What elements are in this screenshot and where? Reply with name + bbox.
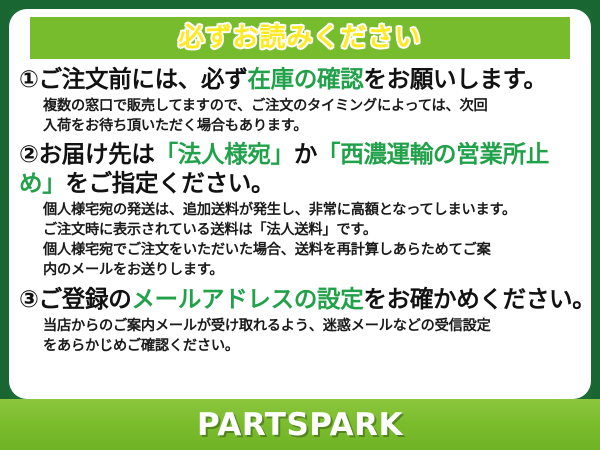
notice-item-1-head-after: をお願いします。 bbox=[363, 65, 546, 93]
frame-right-border bbox=[591, 0, 600, 450]
frame-top-border bbox=[0, 0, 600, 9]
notice-item-3-marker: ③ bbox=[19, 285, 39, 313]
banner-title: 必ずお読みください bbox=[178, 25, 421, 51]
footer-bar: PARTSPARK bbox=[0, 399, 600, 450]
notice-item-1-heading: ①ご注文前には、必ず在庫の確認をお願いします。 bbox=[19, 65, 581, 94]
notice-item-2-body-line-3: 個人様宅宛でご注文をいただいた場合、送料を再計算しあらためてご案 bbox=[43, 240, 581, 260]
brand-logo-text: PARTSPARK bbox=[197, 407, 403, 443]
notice-item-1-body-line-2: 入荷をお待ち頂いただく場合もあります。 bbox=[43, 116, 581, 136]
notice-item-3-head-before: ご登録の bbox=[39, 285, 132, 313]
notice-item-2-head-after: をご指定ください。 bbox=[65, 169, 274, 197]
notice-item-2-head-middle: か bbox=[294, 140, 317, 168]
notice-item-3-head-after: をお確かめください。 bbox=[363, 285, 591, 313]
notice-item-3: ③ご登録のメールアドレスの設定をお確かめください。 当店からのご案内メールが受け… bbox=[19, 285, 581, 356]
notice-item-1-body-line-1: 複数の窓口で販売してますので、ご注文のタイミングによっては、次回 bbox=[43, 96, 581, 116]
notice-item-3-body: 当店からのご案内メールが受け取れるよう、迷惑メールなどの受信設定 をあらかじめご… bbox=[43, 316, 581, 356]
notice-item-2-body: 個人様宅宛の発送は、追加送料が発生し、非常に高額となってしまいます。 ご注文時に… bbox=[43, 200, 581, 281]
notice-item-2-body-line-1: 個人様宅宛の発送は、追加送料が発生し、非常に高額となってしまいます。 bbox=[43, 200, 581, 220]
notice-item-2-body-line-4: 内のメールをお送りします。 bbox=[43, 260, 581, 280]
notice-item-3-body-line-2: をあらかじめご確認ください。 bbox=[43, 336, 581, 356]
notice-item-2-head-highlight: 「法人様宛」 bbox=[155, 140, 294, 168]
notice-item-1-marker: ① bbox=[19, 65, 39, 93]
content-card: 必ずお読みください ①ご注文前には、必ず在庫の確認をお願いします。 複数の窓口で… bbox=[9, 9, 591, 399]
notice-item-2-head-before: お届け先は bbox=[39, 140, 155, 168]
frame-left-border bbox=[0, 0, 9, 450]
notice-item-2-marker: ② bbox=[19, 140, 39, 168]
header-banner: 必ずお読みください bbox=[30, 17, 570, 59]
notice-banner-image: 必ずお読みください ①ご注文前には、必ず在庫の確認をお願いします。 複数の窓口で… bbox=[0, 0, 600, 450]
notice-item-2: ②お届け先は「法人様宛」か「西濃運輸の営業所止め」をご指定ください。 個人様宅宛… bbox=[19, 140, 581, 280]
notice-item-1-head-before: ご注文前には、必ず bbox=[39, 65, 248, 93]
notice-item-3-body-line-1: 当店からのご案内メールが受け取れるよう、迷惑メールなどの受信設定 bbox=[43, 316, 581, 336]
notice-item-3-head-highlight: メールアドレスの設定 bbox=[131, 285, 363, 313]
notice-item-2-heading: ②お届け先は「法人様宛」か「西濃運輸の営業所止め」をご指定ください。 bbox=[19, 140, 581, 198]
notice-item-3-heading: ③ご登録のメールアドレスの設定をお確かめください。 bbox=[19, 285, 581, 314]
notice-item-2-body-line-2: ご注文時に表示されている送料は「法人送料」です。 bbox=[43, 220, 581, 240]
notice-item-1-body: 複数の窓口で販売してますので、ご注文のタイミングによっては、次回 入荷をお待ち頂… bbox=[43, 96, 581, 136]
notice-item-1: ①ご注文前には、必ず在庫の確認をお願いします。 複数の窓口で販売してますので、ご… bbox=[19, 65, 581, 136]
notice-item-1-head-highlight: 在庫の確認 bbox=[247, 65, 363, 93]
notice-list: ①ご注文前には、必ず在庫の確認をお願いします。 複数の窓口で販売してますので、ご… bbox=[9, 65, 591, 360]
